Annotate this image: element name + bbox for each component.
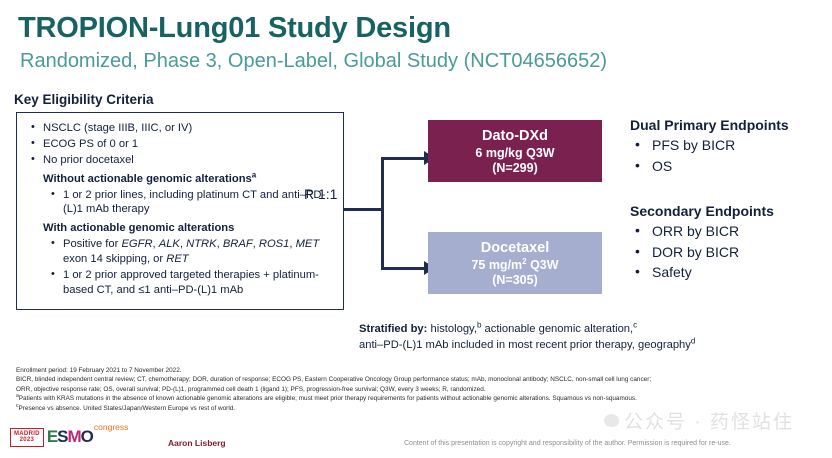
connector-line-to-arm-2 <box>381 267 429 270</box>
treatment-arm-docetaxel: Docetaxel 75 mg/m2 Q3W (N=305) <box>428 232 602 294</box>
footnote-a-b: aPatients with KRAS mutations in the abs… <box>16 394 820 403</box>
connector-line-horizontal <box>344 208 384 211</box>
list-item: No prior docetaxel <box>25 153 337 168</box>
list-item: NSCLC (stage IIIB, IIIC, or IV) <box>25 121 337 136</box>
esmo-letter-m: M <box>68 428 81 445</box>
watermark-text: 公众号 · 药怪站住 <box>624 407 794 434</box>
stratification-line-1: histology, <box>427 323 477 335</box>
list-item: ECOG PS of 0 or 1 <box>25 137 337 152</box>
footnote-abbreviations-2: ORR, objective response rate; OS, overal… <box>16 385 820 394</box>
treatment-arm-dato-dxd: Dato-DXd 6 mg/kg Q3W (N=299) <box>428 120 602 182</box>
stratification-line-1-cont: actionable genomic alteration, <box>481 323 633 335</box>
arm-name: Docetaxel <box>481 240 550 256</box>
list-item: PFS by BICR <box>630 135 789 156</box>
madrid-2023-badge: MADRID 2023 <box>10 428 44 447</box>
secondary-endpoints-block: Secondary Endpoints ORR by BICR DOR by B… <box>630 203 774 283</box>
stratification-label: Stratified by: <box>359 323 427 335</box>
arm-name: Dato-DXd <box>482 128 548 144</box>
group-heading-with-alterations: With actionable genomic alterations <box>43 221 337 236</box>
slide-root: TROPION-Lung01 Study Design Randomized, … <box>0 0 832 458</box>
primary-endpoints-list: PFS by BICR OS <box>630 135 789 176</box>
footnote-enrollment-period: Enrollment period: 19 February 2021 to 7… <box>16 366 820 375</box>
stratification-note: Stratified by: histology,b actionable ge… <box>359 322 789 354</box>
esmo-letter-e: E <box>47 428 57 445</box>
primary-endpoints-block: Dual Primary Endpoints PFS by BICR OS <box>630 117 789 176</box>
esmo-wordmark: ESMO <box>47 428 93 445</box>
esmo-letter-s: S <box>57 428 67 445</box>
group-heading-text: Without actionable genomic alterations <box>43 173 252 185</box>
arm-sample-size: (N=299) <box>492 161 538 175</box>
connector-line-to-arm-1 <box>381 157 429 160</box>
congress-label: congress <box>94 422 129 432</box>
arm-dose: 6 mg/kg Q3W <box>475 146 554 160</box>
list-item: ORR by BICR <box>630 221 774 242</box>
list-item: 1 or 2 prior approved targeted therapies… <box>49 268 337 298</box>
esmo-congress-logo: MADRID 2023 ESMO congress <box>10 428 128 447</box>
copyright-notice: Content of this presentation is copyrigh… <box>404 440 731 447</box>
year-label: 2023 <box>14 437 40 443</box>
eligibility-box: NSCLC (stage IIIB, IIIC, or IV) ECOG PS … <box>16 112 344 310</box>
list-item: DOR by BICR <box>630 242 774 263</box>
page-title: TROPION-Lung01 Study Design <box>18 12 451 45</box>
secondary-endpoints-list: ORR by BICR DOR by BICR Safety <box>630 221 774 283</box>
list-item: 1 or 2 prior lines, including platinum C… <box>49 188 337 218</box>
footnote-a-b-text: Patients with KRAS mutations in the abse… <box>19 395 637 402</box>
page-subtitle: Randomized, Phase 3, Open-Label, Global … <box>20 50 607 73</box>
list-item: Safety <box>630 262 774 283</box>
footnote-marker-d: d <box>691 336 695 345</box>
wechat-icon <box>604 414 619 427</box>
footnote-c-d-text: Presence vs absence. United States/Japan… <box>19 405 236 412</box>
connector-line-vertical <box>381 157 384 270</box>
eligibility-heading: Key Eligibility Criteria <box>14 92 154 107</box>
presenter-name: Aaron Lisberg <box>168 438 226 448</box>
secondary-endpoints-title: Secondary Endpoints <box>630 203 774 219</box>
eligibility-main-list: NSCLC (stage IIIB, IIIC, or IV) ECOG PS … <box>25 121 337 168</box>
eligibility-without-list: 1 or 2 prior lines, including platinum C… <box>49 188 337 218</box>
arm-dose: 75 mg/m2 Q3W <box>471 258 558 272</box>
list-item: Positive for EGFR, ALK, NTRK, BRAF, ROS1… <box>49 237 337 267</box>
randomization-ratio-label: R 1:1 <box>304 186 337 202</box>
wechat-watermark: 公众号 · 药怪站住 <box>604 407 794 434</box>
group-heading-without-alterations: Without actionable genomic alterationsa <box>43 172 337 187</box>
stratification-line-2: anti–PD-(L)1 mAb included in most recent… <box>359 339 691 351</box>
arm-sample-size: (N=305) <box>492 273 538 287</box>
footnote-marker-c: c <box>633 320 637 329</box>
footnote-marker-a: a <box>252 170 256 179</box>
list-item: OS <box>630 156 789 177</box>
primary-endpoints-title: Dual Primary Endpoints <box>630 117 789 133</box>
eligibility-with-list: Positive for EGFR, ALK, NTRK, BRAF, ROS1… <box>49 237 337 298</box>
footnote-abbreviations-1: BICR, blinded independent central review… <box>16 375 820 384</box>
esmo-letter-o: O <box>81 428 93 445</box>
eligibility-content: NSCLC (stage IIIB, IIIC, or IV) ECOG PS … <box>17 113 343 303</box>
